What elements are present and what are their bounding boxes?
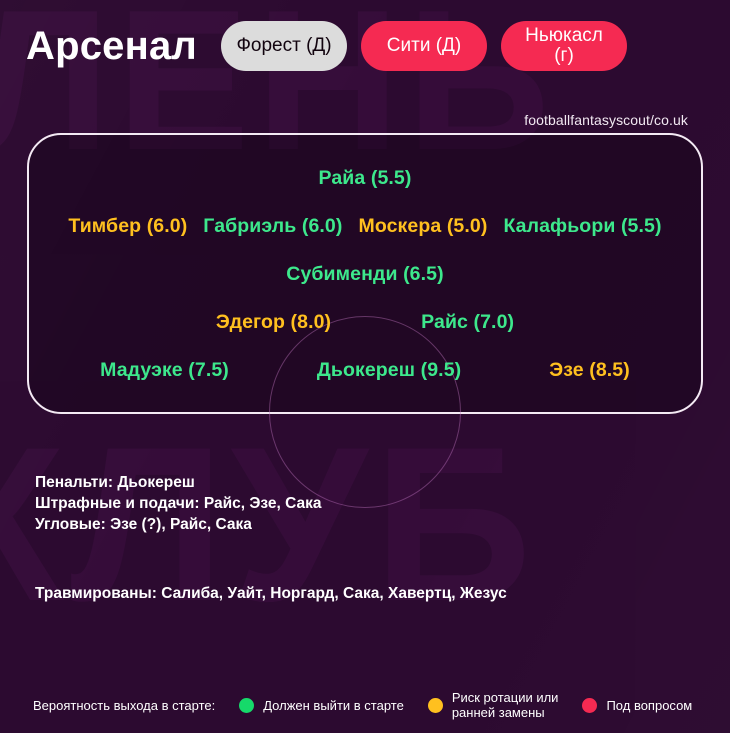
holding-midfield-row: Субименди (6.5) — [29, 250, 701, 298]
defenders-row: Тимбер (6.0) Габриэль (6.0) Москера (5.0… — [29, 202, 701, 250]
yellow-dot-icon — [428, 698, 443, 713]
player-name: Эдегор — [216, 311, 285, 333]
forwards-row: Мадуэке (7.5) Дьокереш (9.5) Эзе (8.5) — [29, 346, 701, 394]
player-name: Субименди — [286, 263, 397, 285]
legend-label: Риск ротации или ранней замены — [452, 690, 559, 720]
player-name: Мадуэке — [100, 359, 183, 381]
legend-item-doubtful: Под вопросом — [582, 698, 692, 713]
fpl-team-lineup-graphic: ЛЕНЬ КЛУБ Арсенал Форест (Д) Сити (Д) Нь… — [0, 0, 730, 733]
player-raya[interactable]: Райа (5.5) — [319, 167, 412, 190]
player-price: (9.5) — [421, 359, 462, 381]
fixture-pill-3[interactable]: Ньюкасл (г) — [501, 21, 627, 71]
note-free-kicks: Штрафные и подачи: Райс, Эзе, Сака — [35, 493, 322, 514]
player-madueke[interactable]: Мадуэке (7.5) — [100, 359, 229, 382]
player-name: Тимбер — [68, 215, 141, 237]
player-price: (7.5) — [188, 359, 229, 381]
note-corners: Угловые: Эзе (?), Райс, Сака — [35, 514, 322, 535]
player-name: Москера — [358, 215, 441, 237]
player-timber[interactable]: Тимбер (6.0) — [68, 215, 187, 238]
legend-item-rotation-risk: Риск ротации или ранней замены — [428, 690, 559, 720]
green-dot-icon — [239, 698, 254, 713]
player-price: (8.5) — [589, 359, 630, 381]
fixture-pill-2[interactable]: Сити (Д) — [361, 21, 487, 71]
player-calafiori[interactable]: Калафьори (5.5) — [503, 215, 661, 238]
player-price: (5.5) — [621, 215, 662, 237]
legend-item-starter: Должен выйти в старте — [239, 698, 404, 713]
player-mosquera[interactable]: Москера (5.0) — [358, 215, 487, 238]
player-price: (6.5) — [403, 263, 444, 285]
goalkeeper-row: Райа (5.5) — [29, 154, 701, 202]
player-odegaard[interactable]: Эдегор (8.0) — [216, 311, 331, 334]
player-price: (6.0) — [147, 215, 188, 237]
legend-bar: Вероятность выхода в старте: Должен выйт… — [0, 677, 730, 733]
player-name: Калафьори — [503, 215, 615, 237]
player-price: (5.5) — [371, 167, 412, 189]
player-zubimendi[interactable]: Субименди (6.5) — [286, 263, 443, 286]
legend-title: Вероятность выхода в старте: — [33, 698, 215, 713]
fixture-pill-1[interactable]: Форест (Д) — [221, 21, 347, 71]
player-price: (7.0) — [474, 311, 515, 333]
player-name: Дьокереш — [317, 359, 415, 381]
attacking-midfield-row: Эдегор (8.0) Райс (7.0) — [29, 298, 701, 346]
note-penalties: Пенальти: Дьокереш — [35, 472, 322, 493]
player-name: Райа — [319, 167, 366, 189]
player-eze[interactable]: Эзе (8.5) — [549, 359, 630, 382]
player-name: Райс — [421, 311, 468, 333]
pitch-card: Райа (5.5) Тимбер (6.0) Габриэль (6.0) М… — [27, 133, 703, 414]
injuries-line: Травмированы: Салиба, Уайт, Норгард, Сак… — [35, 585, 507, 603]
player-price: (6.0) — [302, 215, 343, 237]
legend-label: Должен выйти в старте — [263, 698, 404, 713]
legend-label: Под вопросом — [606, 698, 692, 713]
player-price: (8.0) — [291, 311, 332, 333]
player-price: (5.0) — [447, 215, 488, 237]
set-piece-notes: Пенальти: Дьокереш Штрафные и подачи: Ра… — [35, 472, 322, 535]
player-name: Эзе — [549, 359, 583, 381]
team-name: Арсенал — [26, 24, 197, 69]
player-rice[interactable]: Райс (7.0) — [421, 311, 514, 334]
fixture-list: Форест (Д) Сити (Д) Ньюкасл (г) — [221, 21, 627, 71]
red-dot-icon — [582, 698, 597, 713]
header-bar: Арсенал Форест (Д) Сити (Д) Ньюкасл (г) — [0, 0, 730, 92]
player-gabriel[interactable]: Габриэль (6.0) — [203, 215, 342, 238]
player-name: Габриэль — [203, 215, 296, 237]
source-credit: footballfantasyscout/co.uk — [524, 112, 688, 128]
player-gyokeres[interactable]: Дьокереш (9.5) — [317, 359, 461, 382]
